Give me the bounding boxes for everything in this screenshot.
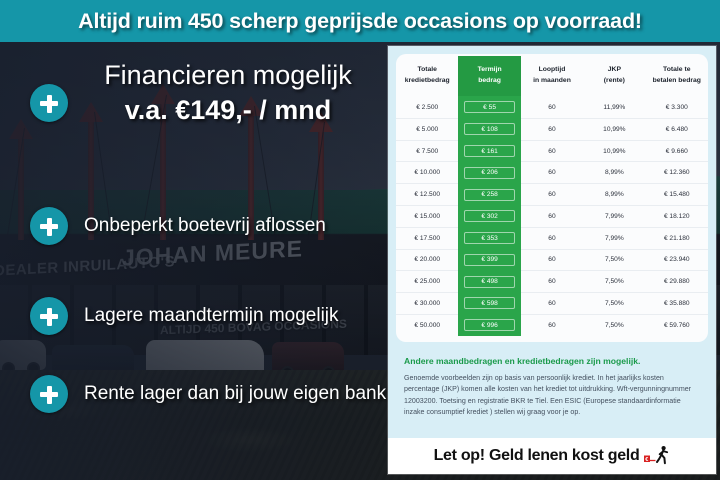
top-banner: Altijd ruim 450 scherp geprijsde occasio…	[0, 0, 720, 42]
column-header-line: Looptijd	[522, 65, 582, 76]
column-header-line: in maanden	[522, 76, 582, 87]
table-cell: € 55	[458, 97, 520, 119]
monthly-amount-value: € 598	[464, 297, 514, 309]
warning-text: Let op! Geld lenen kost geld	[434, 447, 640, 465]
table-cell: € 20.000	[396, 249, 458, 271]
table-cell: € 35.880	[646, 293, 708, 315]
table-cell: € 50.000	[396, 314, 458, 335]
monthly-amount-value: € 206	[464, 167, 514, 179]
column-header-line: JKP	[584, 65, 644, 76]
column-header-line: betalen bedrag	[647, 76, 707, 87]
column-header-line: (rente)	[584, 76, 644, 87]
monthly-amount-value: € 996	[464, 319, 514, 331]
column-header-1: Termijnbedrag	[458, 56, 520, 97]
rate-table-body: € 2.500€ 556011,99%€ 3.300€ 5.000€ 10860…	[396, 97, 708, 336]
headline-line-1: Financieren mogelijk	[78, 60, 378, 90]
bullet-item-2: Rente lager dan bij jouw eigen bank	[30, 375, 386, 413]
table-cell: 11,99%	[583, 97, 645, 119]
column-header-line: Termijn	[459, 65, 519, 76]
table-cell: 60	[521, 249, 583, 271]
plus-icon	[30, 84, 68, 122]
rate-table-head: TotalekredietbedragTermijnbedragLooptijd…	[396, 56, 708, 97]
column-header-3: JKP(rente)	[583, 56, 645, 97]
plus-icon	[30, 375, 68, 413]
column-header-line: bedrag	[459, 76, 519, 87]
table-row: € 10.000€ 206608,99%€ 12.360	[396, 162, 708, 184]
table-cell: 7,50%	[583, 249, 645, 271]
table-row: € 2.500€ 556011,99%€ 3.300	[396, 97, 708, 119]
bullet-item-0: Onbeperkt boetevrij aflossen	[30, 207, 326, 245]
table-cell: 7,50%	[583, 293, 645, 315]
table-cell: 8,99%	[583, 184, 645, 206]
table-cell: € 12.500	[396, 184, 458, 206]
financing-info-card: TotalekredietbedragTermijnbedragLooptijd…	[388, 46, 716, 474]
table-cell: € 25.000	[396, 271, 458, 293]
table-cell: 60	[521, 184, 583, 206]
bullet-item-1: Lagere maandtermijn mogelijk	[30, 297, 339, 335]
plus-icon	[30, 207, 68, 245]
table-cell: € 15.000	[396, 205, 458, 227]
table-cell: € 30.000	[396, 293, 458, 315]
table-cell: € 302	[458, 205, 520, 227]
table-cell: 60	[521, 314, 583, 335]
table-cell: € 12.360	[646, 162, 708, 184]
table-cell: € 258	[458, 184, 520, 206]
table-cell: 7,99%	[583, 205, 645, 227]
plus-icon	[30, 297, 68, 335]
column-header-2: Looptijdin maanden	[521, 56, 583, 97]
table-cell: € 2.500	[396, 97, 458, 119]
advertisement-banner: DEALER INRUILAUTO'S JOHAN MEURE ALTIJD 4…	[0, 0, 720, 480]
table-cell: € 108	[458, 118, 520, 140]
table-row: € 12.500€ 258608,99%€ 15.480	[396, 184, 708, 206]
table-cell: 7,50%	[583, 271, 645, 293]
table-cell: € 21.180	[646, 227, 708, 249]
table-cell: € 10.000	[396, 162, 458, 184]
table-cell: 60	[521, 97, 583, 119]
rate-table: TotalekredietbedragTermijnbedragLooptijd…	[396, 56, 708, 336]
svg-text:€: €	[646, 457, 649, 463]
note-title: Andere maandbedragen en kredietbedragen …	[404, 356, 700, 366]
table-cell: € 9.660	[646, 140, 708, 162]
monthly-amount-value: € 498	[464, 276, 514, 288]
table-cell: € 23.940	[646, 249, 708, 271]
table-cell: € 353	[458, 227, 520, 249]
table-cell: 10,99%	[583, 118, 645, 140]
bullet-label: Lagere maandtermijn mogelijk	[84, 305, 339, 327]
column-header-line: Totale te	[647, 65, 707, 76]
column-header-line: kredietbedrag	[397, 76, 457, 87]
table-cell: € 6.480	[646, 118, 708, 140]
table-cell: € 29.880	[646, 271, 708, 293]
table-row: € 50.000€ 996607,50%€ 59.760	[396, 314, 708, 335]
table-cell: € 5.000	[396, 118, 458, 140]
table-row: € 20.000€ 399607,50%€ 23.940	[396, 249, 708, 271]
table-cell: 60	[521, 118, 583, 140]
table-cell: € 399	[458, 249, 520, 271]
table-cell: 60	[521, 205, 583, 227]
table-cell: 7,99%	[583, 227, 645, 249]
table-cell: € 3.300	[646, 97, 708, 119]
table-cell: 60	[521, 140, 583, 162]
column-header-line: Totale	[397, 65, 457, 76]
column-header-0: Totalekredietbedrag	[396, 56, 458, 97]
table-row: € 7.500€ 1616010,99%€ 9.660	[396, 140, 708, 162]
bullet-label: Rente lager dan bij jouw eigen bank	[84, 383, 386, 405]
note-body: Genoemde voorbeelden zijn op basis van p…	[404, 373, 700, 419]
table-cell: € 17.500	[396, 227, 458, 249]
table-cell: 10,99%	[583, 140, 645, 162]
left-content-column: Financieren mogelijk v.a. €149,- / mnd O…	[0, 42, 388, 480]
bullet-item-financing	[30, 84, 68, 122]
disclaimer-note: Andere maandbedragen en kredietbedragen …	[388, 342, 716, 419]
running-man-icon: €	[644, 445, 670, 467]
table-cell: 60	[521, 227, 583, 249]
monthly-amount-value: € 108	[464, 123, 514, 135]
table-cell: 60	[521, 293, 583, 315]
headline-line-2: v.a. €149,- / mnd	[78, 94, 378, 126]
table-row: € 25.000€ 498607,50%€ 29.880	[396, 271, 708, 293]
table-row: € 17.500€ 353607,99%€ 21.180	[396, 227, 708, 249]
table-cell: € 498	[458, 271, 520, 293]
monthly-amount-value: € 161	[464, 145, 514, 157]
monthly-amount-value: € 302	[464, 210, 514, 222]
table-row: € 30.000€ 598607,50%€ 35.880	[396, 293, 708, 315]
table-cell: € 7.500	[396, 140, 458, 162]
monthly-amount-value: € 55	[464, 101, 514, 113]
warning-bar: Let op! Geld lenen kost geld €	[388, 438, 716, 474]
bullet-label: Onbeperkt boetevrij aflossen	[84, 215, 326, 237]
table-cell: 7,50%	[583, 314, 645, 335]
table-row: € 5.000€ 1086010,99%€ 6.480	[396, 118, 708, 140]
table-cell: € 996	[458, 314, 520, 335]
table-cell: € 15.480	[646, 184, 708, 206]
table-cell: € 18.120	[646, 205, 708, 227]
table-cell: € 161	[458, 140, 520, 162]
column-header-4: Totale tebetalen bedrag	[646, 56, 708, 97]
table-cell: € 59.760	[646, 314, 708, 335]
table-row: € 15.000€ 302607,99%€ 18.120	[396, 205, 708, 227]
top-banner-text: Altijd ruim 450 scherp geprijsde occasio…	[78, 9, 642, 34]
monthly-amount-value: € 258	[464, 189, 514, 201]
rate-table-container: TotalekredietbedragTermijnbedragLooptijd…	[396, 54, 708, 342]
table-cell: € 206	[458, 162, 520, 184]
monthly-amount-value: € 353	[464, 232, 514, 244]
table-cell: 60	[521, 271, 583, 293]
headline-block: Financieren mogelijk v.a. €149,- / mnd	[78, 60, 378, 127]
monthly-amount-value: € 399	[464, 254, 514, 266]
table-cell: 8,99%	[583, 162, 645, 184]
table-cell: € 598	[458, 293, 520, 315]
table-header-row: TotalekredietbedragTermijnbedragLooptijd…	[396, 56, 708, 97]
table-cell: 60	[521, 162, 583, 184]
